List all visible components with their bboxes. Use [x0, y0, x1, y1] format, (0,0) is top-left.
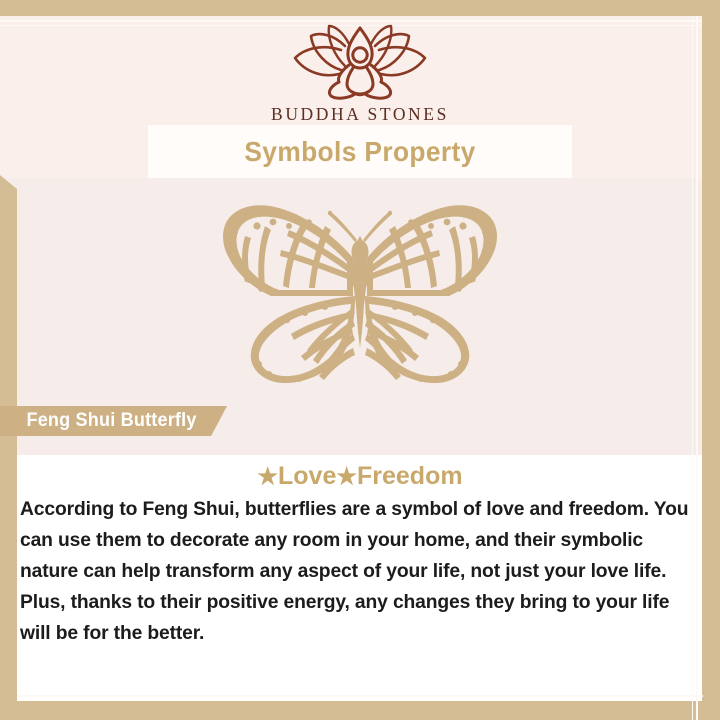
brand-name: BUDDHA STONES	[0, 104, 720, 125]
subheading-word-freedom: Freedom	[357, 462, 463, 490]
feng-shui-butterfly-ribbon: Feng Shui Butterfly	[0, 406, 227, 436]
title-band: Symbols Property	[148, 125, 572, 178]
lotus-meditation-icon	[285, 24, 435, 102]
section-subheading: ★Love★Freedom	[0, 462, 720, 491]
butterfly-icon	[205, 200, 515, 390]
illustration-container	[0, 200, 720, 395]
star-icon-left: ★	[257, 463, 278, 489]
section-body-text: According to Feng Shui, butterflies are …	[20, 494, 692, 649]
frame-band-top	[0, 0, 720, 16]
product-info-card: BUDDHA STONES Symbols Property	[0, 0, 720, 720]
page-title: Symbols Property	[244, 136, 475, 168]
brand-logo-block: BUDDHA STONES	[0, 24, 720, 125]
star-icon-middle: ★	[336, 463, 357, 489]
frame-hairline-top	[0, 20, 702, 22]
ribbon-label: Feng Shui Butterfly	[26, 410, 196, 432]
frame-hairline-bottom	[17, 695, 703, 697]
frame-band-bottom	[0, 701, 720, 720]
subheading-word-love: Love	[278, 462, 336, 490]
